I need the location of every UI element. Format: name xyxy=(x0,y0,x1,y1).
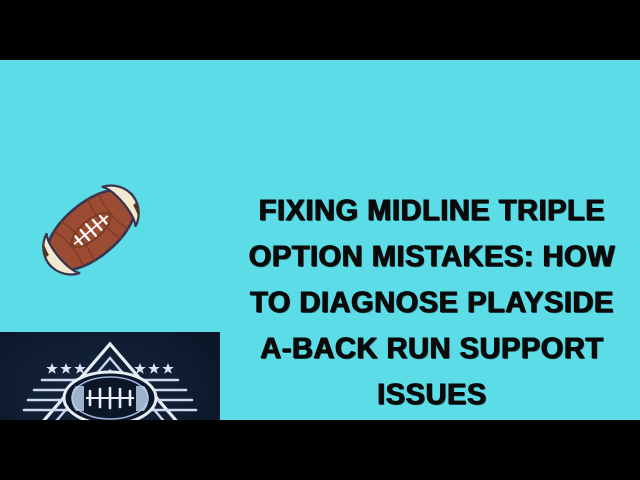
title-line-1: FIXING MIDLINE TRIPLE xyxy=(238,188,626,234)
football-shield-emblem-icon xyxy=(18,336,202,420)
football-icon xyxy=(33,172,149,288)
letterbox-bar-top xyxy=(0,0,640,60)
letterbox-bar-bottom xyxy=(0,420,640,480)
title-line-3: TO DIAGNOSE PLAYSIDE xyxy=(238,280,626,326)
title-line-5: ISSUES xyxy=(238,372,626,418)
thumbnail-canvas: FIXING MIDLINE TRIPLE OPTION MISTAKES: H… xyxy=(0,0,640,480)
thumbnail-content-area: FIXING MIDLINE TRIPLE OPTION MISTAKES: H… xyxy=(0,60,640,420)
page-title: FIXING MIDLINE TRIPLE OPTION MISTAKES: H… xyxy=(232,188,632,418)
title-line-4: A-BACK RUN SUPPORT xyxy=(238,326,626,372)
title-line-2: OPTION MISTAKES: HOW xyxy=(238,234,626,280)
brand-logo-panel: TRIPLE OPTION FOOTBALL ACADEMY xyxy=(0,332,220,420)
